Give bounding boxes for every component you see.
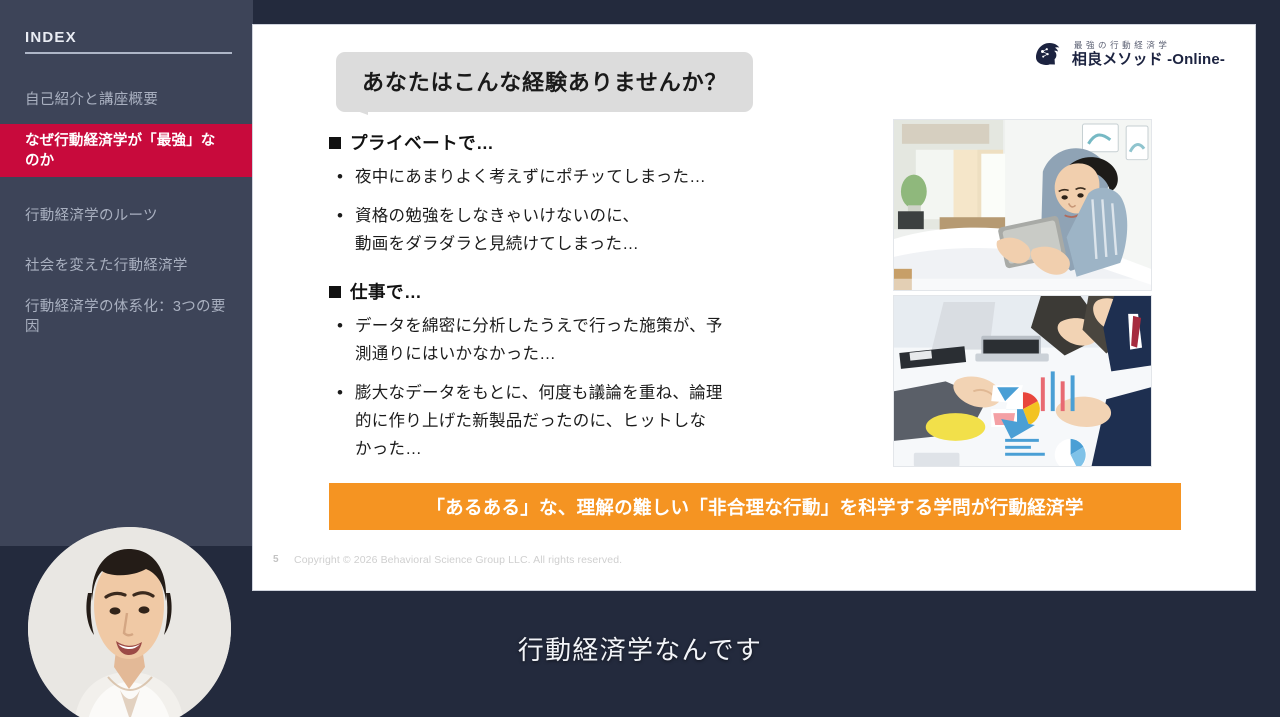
square-bullet-icon [329, 137, 341, 149]
bullet-dot-icon: • [329, 379, 355, 463]
logo-text-block: 最強の行動経済学 相良メソッド -Online- [1072, 39, 1225, 68]
list-item-text: 資格の勉強をしなきゃいけないのに、 動画をダラダラと見続けてしまった… [355, 202, 839, 258]
bullet-dot-icon: • [329, 163, 355, 191]
highlight-banner: 「あるある」な、理解の難しい「非合理な行動」を科学する学問が行動経済学 [329, 483, 1181, 530]
index-heading: INDEX [25, 29, 77, 46]
presentation-player: INDEX 自己紹介と講座概要 なぜ行動経済学が「最強」なのか 行動経済学のルー… [0, 0, 1280, 717]
index-sidebar: INDEX 自己紹介と講座概要 なぜ行動経済学が「最強」なのか 行動経済学のルー… [0, 0, 253, 546]
slide-body: プライベートで… • 夜中にあまりよく考えずにポチッてしまった… • 資格の勉強… [329, 130, 839, 474]
logo-name: 相良メソッド -Online- [1072, 51, 1225, 68]
highlight-banner-text: 「あるある」な、理解の難しい「非合理な行動」を科学する学問が行動経済学 [426, 494, 1083, 520]
logo-tagline: 最強の行動経済学 [1072, 39, 1225, 51]
section-heading: 仕事で… [329, 279, 839, 304]
list-item: • 夜中にあまりよく考えずにポチッてしまった… [329, 163, 839, 191]
bullet-dot-icon: • [329, 312, 355, 368]
section-heading-label: 仕事で… [350, 279, 422, 304]
bubble-tail [338, 104, 368, 115]
list-item: • データを綿密に分析したうえで行った施策が、予 測通りにはいかなかった… [329, 312, 839, 368]
sidebar-item-intro[interactable]: 自己紹介と講座概要 [0, 80, 253, 120]
bullet-dot-icon: • [329, 202, 355, 258]
list-item-text: 夜中にあまりよく考えずにポチッてしまった… [355, 163, 839, 191]
list-item: • 膨大なデータをもとに、何度も議論を重ね、論理 的に作り上げた新製品だったのに… [329, 379, 839, 463]
section-work: 仕事で… • データを綿密に分析したうえで行った施策が、予 測通りにはいかなかっ… [329, 279, 839, 463]
bullet-list: • データを綿密に分析したうえで行った施策が、予 測通りにはいかなかった… • … [329, 312, 839, 463]
slide-number: 5 [273, 554, 279, 565]
sidebar-item-label: なぜ行動経済学が「最強」なのか [25, 131, 229, 171]
copyright-notice: Copyright © 2026 Behavioral Science Grou… [294, 554, 622, 566]
section-heading: プライベートで… [329, 130, 839, 155]
slide-title-bubble: あなたはこんな経験ありませんか？ [336, 52, 753, 112]
index-divider [25, 52, 232, 54]
square-bullet-icon [329, 286, 341, 298]
sidebar-item-roots[interactable]: 行動経済学のルーツ [0, 196, 253, 236]
sidebar-item-label: 行動経済学のルーツ [25, 206, 158, 226]
list-item-text: 膨大なデータをもとに、何度も議論を重ね、論理 的に作り上げた新製品だったのに、ヒ… [355, 379, 839, 463]
list-item: • 資格の勉強をしなきゃいけないのに、 動画をダラダラと見続けてしまった… [329, 202, 839, 258]
presenter-video-avatar[interactable] [28, 527, 231, 717]
sidebar-item-society[interactable]: 社会を変えた行動経済学 [0, 246, 253, 286]
section-private: プライベートで… • 夜中にあまりよく考えずにポチッてしまった… • 資格の勉強… [329, 130, 839, 258]
section-heading-label: プライベートで… [350, 130, 494, 155]
photo-business-discussion [893, 295, 1152, 467]
slide-canvas: 最強の行動経済学 相良メソッド -Online- あなたはこんな経験ありませんか… [253, 25, 1255, 590]
sidebar-item-systematization[interactable]: 行動経済学の体系化：3つの要因 [0, 293, 253, 341]
bubble-body: あなたはこんな経験ありませんか？ [336, 52, 753, 112]
video-caption: 行動経済学なんです [0, 630, 1280, 667]
brain-head-icon [1032, 37, 1065, 70]
sidebar-item-label: 社会を変えた行動経済学 [25, 256, 188, 276]
bullet-list: • 夜中にあまりよく考えずにポチッてしまった… • 資格の勉強をしなきゃいけない… [329, 163, 839, 258]
sidebar-item-why-behavioral-economics[interactable]: なぜ行動経済学が「最強」なのか [0, 124, 253, 177]
photo-man-with-smartphone [893, 119, 1152, 291]
course-logo: 最強の行動経済学 相良メソッド -Online- [1032, 37, 1225, 70]
slide-title: あなたはこんな経験ありませんか？ [362, 70, 727, 95]
sidebar-item-label: 自己紹介と講座概要 [25, 90, 158, 110]
sidebar-item-label: 行動経済学の体系化：3つの要因 [25, 297, 229, 337]
list-item-text: データを綿密に分析したうえで行った施策が、予 測通りにはいかなかった… [355, 312, 839, 368]
